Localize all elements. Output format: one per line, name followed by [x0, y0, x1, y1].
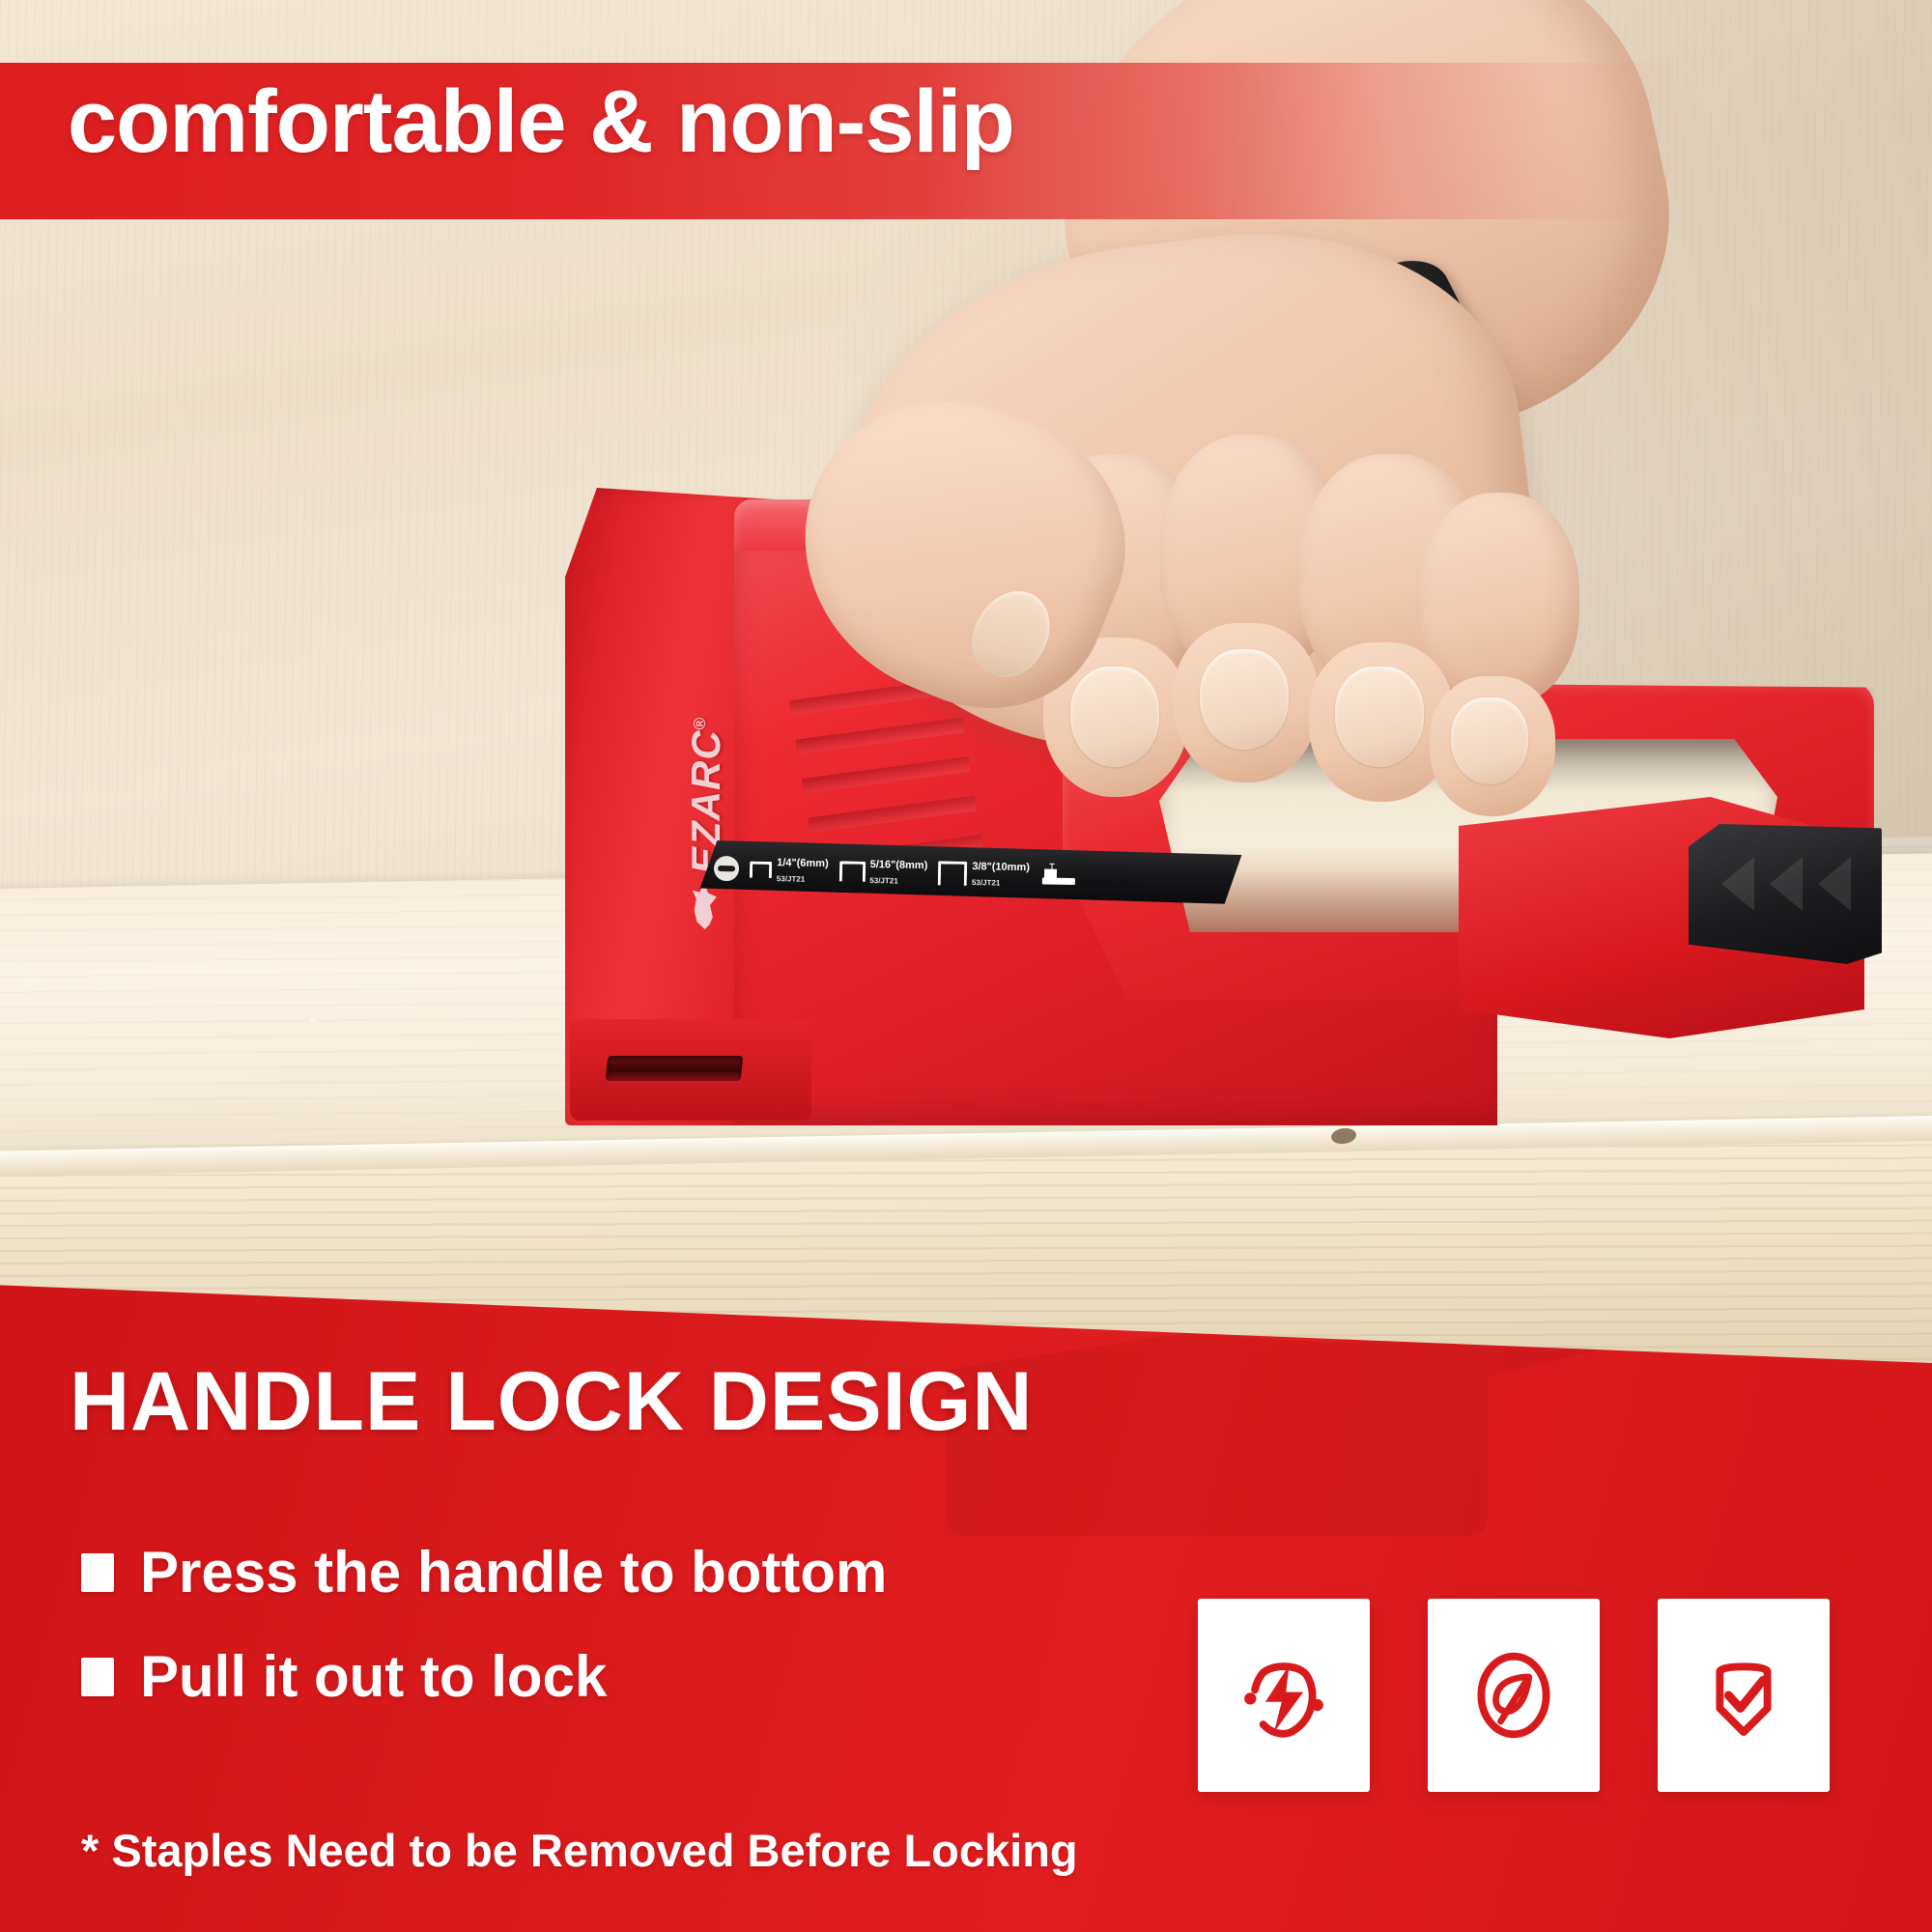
badge-power [1198, 1599, 1370, 1792]
staple-size-item: 3/8"(10mm) 53/JT21 [938, 857, 1030, 890]
registered-mark: ® [691, 717, 709, 730]
bullet-square-icon [81, 1553, 114, 1592]
bullet-square-icon [81, 1658, 114, 1696]
loader-bar [1042, 877, 1075, 885]
list-item: Press the handle to bottom [81, 1544, 887, 1602]
chevron-icon [1770, 857, 1803, 911]
staple-glyph-icon [750, 861, 772, 877]
staple-loading-icon: ↧ [1042, 862, 1075, 888]
staple-glyph-icon [838, 861, 865, 882]
shield-check-icon [1690, 1641, 1798, 1749]
shark-mark-icon [690, 883, 723, 929]
staple-code-label: 53/JT21 [777, 874, 806, 884]
panel-footnote: * Staples Need to be Removed Before Lock… [81, 1824, 1078, 1877]
eco-leaf-icon [1460, 1641, 1568, 1749]
staple-size-item: 1/4"(6mm) 53/JT21 [750, 854, 829, 887]
list-item: Pull it out to lock [81, 1648, 887, 1706]
bullet-label: Pull it out to lock [140, 1648, 607, 1706]
brand-logo: EZARC® [677, 707, 735, 929]
staple-code-label: 53/JT21 [869, 876, 898, 886]
product-marketing-image: 🔒 / 🔓 EZARC® [0, 0, 1932, 1932]
feature-badges [1198, 1599, 1830, 1792]
chevron-icon [1721, 857, 1754, 911]
staple-size-item: 5/16"(8mm) 53/JT21 [838, 855, 927, 888]
staple-exit-slot [606, 1056, 744, 1081]
rear-rubber-pad [1689, 824, 1882, 964]
top-banner-headline: comfortable & non-slip [68, 77, 1014, 166]
badge-eco [1428, 1599, 1600, 1792]
staple-code-label: 53/JT21 [972, 878, 1001, 888]
feature-bullet-list: Press the handle to bottom Pull it out t… [81, 1544, 887, 1752]
panel-title: HANDLE LOCK DESIGN [70, 1360, 1033, 1443]
staple-size-label: 3/8"(10mm) [972, 861, 1030, 873]
staple-gun: 🔒 / 🔓 EZARC® [541, 478, 1681, 1116]
staple-glyph-icon [938, 861, 967, 886]
power-bolt-icon [1230, 1641, 1338, 1749]
chevron-icon [1818, 857, 1851, 911]
staple-size-label: 5/16"(8mm) [870, 859, 928, 871]
wood-speck [309, 1019, 316, 1023]
bullet-label: Press the handle to bottom [140, 1544, 887, 1602]
staple-size-label: 1/4"(6mm) [777, 857, 829, 869]
badge-safety [1658, 1599, 1830, 1792]
selector-dial-icon [714, 856, 739, 881]
